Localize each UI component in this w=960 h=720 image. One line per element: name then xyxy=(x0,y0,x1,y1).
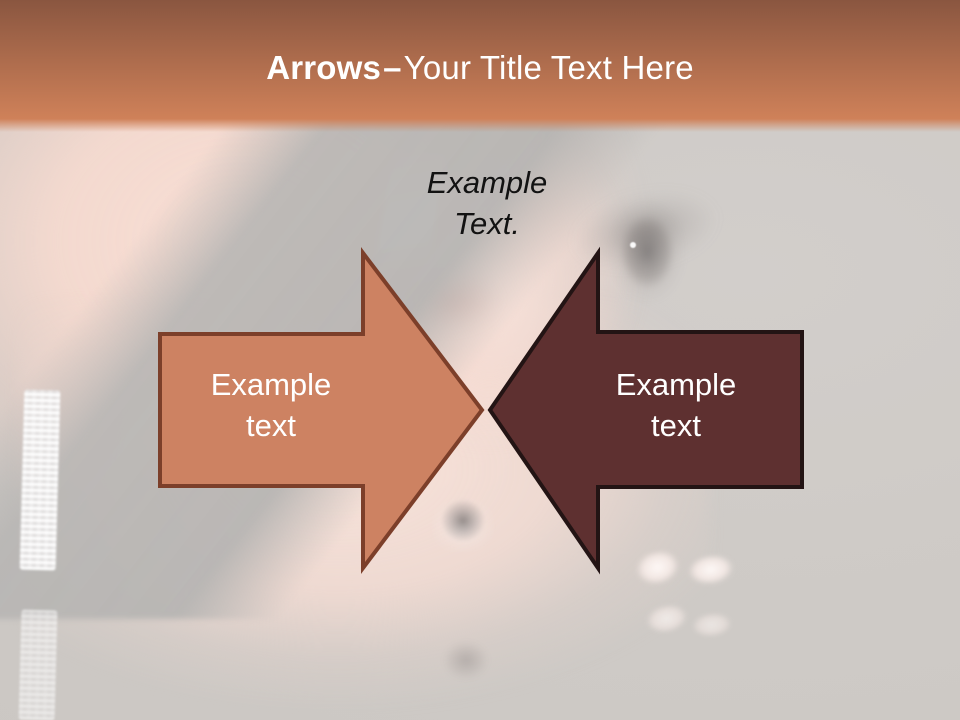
right-arrow-label-line-1: Example xyxy=(578,364,774,405)
arrow-diagram xyxy=(0,0,960,720)
right-arrow-label: Example text xyxy=(578,364,774,446)
left-arrow-label: Example text xyxy=(176,364,366,446)
left-arrow-label-line-2: text xyxy=(176,405,366,446)
left-arrow-label-line-1: Example xyxy=(176,364,366,405)
slide-canvas: Arrows–Your Title Text Here Example Text… xyxy=(0,0,960,720)
right-arrow-label-line-2: text xyxy=(578,405,774,446)
